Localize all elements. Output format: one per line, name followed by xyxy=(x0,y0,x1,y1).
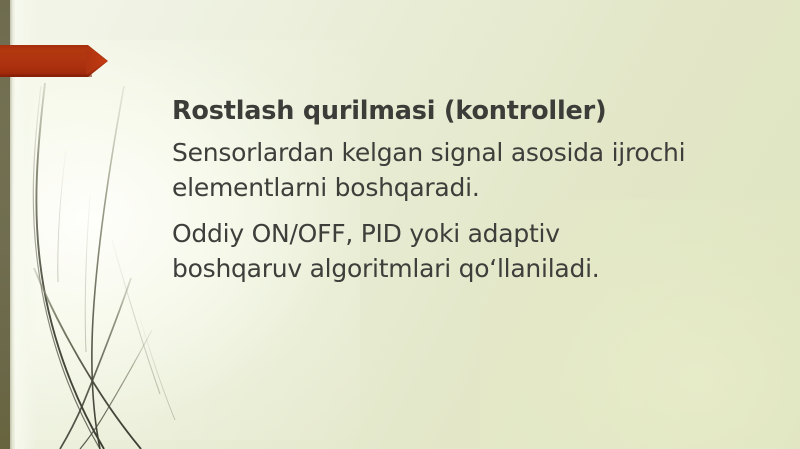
slide-content: Rostlash qurilmasi (kontroller) Sensorla… xyxy=(172,96,692,286)
body-paragraph-2: Oddiy ON/OFF, PID yoki adaptiv boshqaruv… xyxy=(172,217,692,286)
body-paragraph-1: Sensorlardan kelgan signal asosida ijroc… xyxy=(172,136,692,205)
left-light-band xyxy=(15,0,37,449)
olive-edge-strip xyxy=(0,0,10,449)
presentation-slide: Rostlash qurilmasi (kontroller) Sensorla… xyxy=(0,0,800,449)
page-title: Rostlash qurilmasi (kontroller) xyxy=(172,96,692,126)
